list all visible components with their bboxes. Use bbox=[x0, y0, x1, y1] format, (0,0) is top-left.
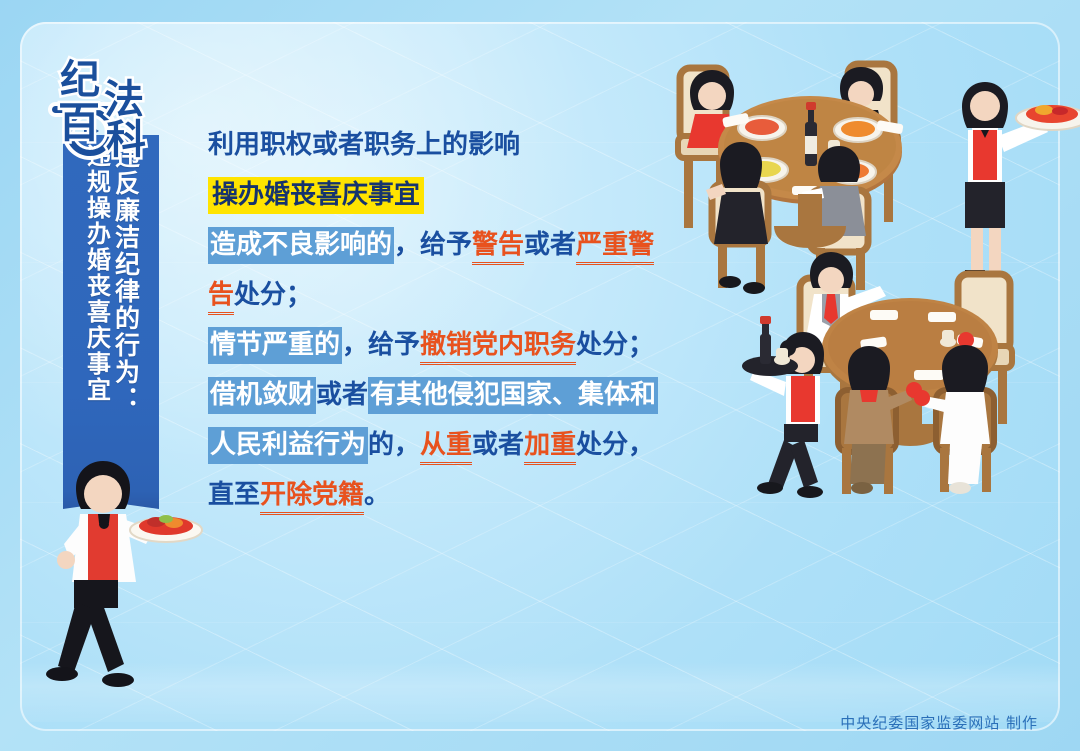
line-5: 情节严重的，给予撤销党内职务处分； bbox=[208, 332, 728, 358]
line-1-seg-0-plain: 利用职权或者职务上的影响 bbox=[208, 130, 520, 160]
line-8-seg-1-accent-red: 开除党籍 bbox=[260, 480, 364, 515]
line-3-seg-0-highlight-blue: 造成不良影响的 bbox=[208, 227, 394, 264]
line-4-seg-0-accent-red: 告 bbox=[208, 280, 234, 315]
line-3-seg-3-plain: 或者 bbox=[524, 230, 576, 260]
line-3-seg-1-plain: ，给予 bbox=[394, 230, 472, 260]
line-7-seg-1-plain: 的， bbox=[368, 430, 420, 460]
banner-column-right: 违反廉洁纪律的行为： bbox=[112, 143, 139, 493]
line-8: 直至开除党籍。 bbox=[208, 482, 728, 508]
line-3-seg-4-accent-red: 严重警 bbox=[576, 230, 654, 265]
line-1: 利用职权或者职务上的影响 bbox=[208, 132, 728, 158]
line-7: 人民利益行为的，从重或者加重处分， bbox=[208, 432, 728, 458]
line-8-seg-2-plain: 。 bbox=[364, 480, 390, 510]
line-5-seg-1-plain: ，给予 bbox=[342, 330, 420, 360]
banquet-table-illustration-bottom bbox=[742, 248, 1062, 498]
line-4-seg-1-plain: 处分； bbox=[234, 280, 312, 310]
waitress-with-drinks-tray bbox=[742, 316, 824, 498]
line-3-seg-2-accent-red: 警告 bbox=[472, 230, 524, 265]
line-5-seg-3-plain: 处分； bbox=[576, 330, 654, 360]
waiter-with-plate-illustration bbox=[40, 452, 210, 697]
banner-column-left: 违规操办婚丧喜庆事宜 bbox=[83, 143, 109, 493]
line-7-seg-2-accent-red: 从重 bbox=[420, 430, 472, 465]
line-7-seg-5-plain: 处分， bbox=[576, 430, 654, 460]
line-8-seg-0-plain: 直至 bbox=[208, 480, 260, 510]
line-6-seg-2-highlight-blue: 有其他侵犯国家、集体和 bbox=[368, 377, 658, 414]
line-2-seg-0-highlight-yellow: 操办婚丧喜庆事宜 bbox=[208, 177, 424, 214]
line-7-seg-4-accent-red: 加重 bbox=[524, 430, 576, 465]
line-7-seg-0-highlight-blue: 人民利益行为 bbox=[208, 427, 368, 464]
brand-logo: 纪 法 百 科 bbox=[52, 58, 172, 178]
line-4: 告处分； bbox=[208, 282, 728, 308]
line-6-seg-0-highlight-blue: 借机敛财 bbox=[208, 377, 316, 414]
logo-char-fa: 法 bbox=[104, 80, 144, 120]
line-6: 借机敛财或者有其他侵犯国家、集体和 bbox=[208, 382, 728, 408]
poster-root: 纪 法 百 科 违反廉洁纪律的行为： 违规操办婚丧喜庆事宜 利用职权或者职务上的… bbox=[0, 0, 1080, 751]
vertical-banner-columns: 违反廉洁纪律的行为： 违规操办婚丧喜庆事宜 bbox=[63, 135, 159, 493]
logo-char-bai: 百 bbox=[58, 102, 100, 144]
logo-char-ke: 科 bbox=[106, 120, 146, 160]
footer-credit: 中央纪委国家监委网站 制作 bbox=[840, 712, 1038, 733]
line-5-seg-0-highlight-blue: 情节严重的 bbox=[208, 327, 342, 364]
line-6-seg-1-plain: 或者 bbox=[316, 380, 368, 410]
vertical-banner: 违反廉洁纪律的行为： 违规操办婚丧喜庆事宜 bbox=[63, 135, 159, 493]
body-text-block: 利用职权或者职务上的影响操办婚丧喜庆事宜造成不良影响的，给予警告或者严重警告处分… bbox=[208, 132, 728, 532]
line-7-seg-3-plain: 或者 bbox=[472, 430, 524, 460]
line-5-seg-2-accent-red: 撤销党内职务 bbox=[420, 330, 576, 365]
line-2: 操办婚丧喜庆事宜 bbox=[208, 182, 728, 208]
logo-char-ji: 纪 bbox=[60, 60, 100, 100]
line-3: 造成不良影响的，给予警告或者严重警 bbox=[208, 232, 728, 258]
